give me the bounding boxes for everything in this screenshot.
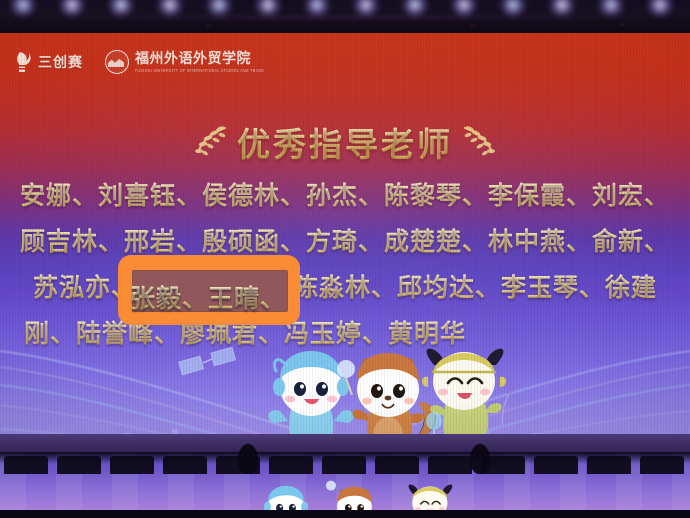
seat-silhouette — [57, 456, 101, 474]
seat-silhouette — [534, 456, 578, 474]
seat-silhouette — [269, 456, 313, 474]
torch-icon — [14, 50, 33, 75]
ceiling-light-rig — [0, 0, 690, 35]
sanchuangsai-logo: 三创赛 — [14, 50, 83, 75]
annotation-inner-box — [132, 270, 288, 312]
led-screen: 三创赛 福州外语外贸学院 FUZHOU UNIVERSITY OF INTERN… — [0, 33, 690, 440]
rig-fixture — [206, 24, 211, 27]
screen-artwork — [0, 333, 690, 440]
logo-row: 三创赛 福州外语外贸学院 FUZHOU UNIVERSITY OF INTERN… — [14, 45, 264, 79]
seat-silhouette — [110, 456, 154, 474]
wheat-left-icon — [189, 124, 229, 160]
stage-lamp — [547, 0, 577, 16]
name-row: 安娜、刘喜钰、侯德林、孙杰、陈黎琴、李保霞、刘宏、 — [0, 171, 690, 217]
university-logo-en: FUZHOU UNIVERSITY OF INTERNATIONAL STUDI… — [135, 68, 264, 73]
annotation-highlight-box — [118, 255, 300, 325]
green-horned-mascot — [408, 343, 524, 440]
name-row: 顾吉林、邢岩、殷硕函、方琦、成楚楚、林中燕、俞新、 — [0, 217, 690, 263]
teacher-name-list: 安娜、刘喜钰、侯德林、孙杰、陈黎琴、李保霞、刘宏、 顾吉林、邢岩、殷硕函、方琦、… — [0, 171, 690, 355]
seat-silhouette — [587, 456, 631, 474]
stage-photo: 三创赛 福州外语外贸学院 FUZHOU UNIVERSITY OF INTERN… — [0, 0, 690, 518]
stage-lamp — [155, 0, 185, 16]
rig-fixture — [620, 23, 625, 26]
stage-lamp — [106, 0, 136, 16]
university-emblem-icon — [105, 50, 129, 74]
rig-fixture — [470, 24, 475, 27]
stage-lamp — [400, 0, 430, 16]
screen-title-row: 优秀指导老师 — [0, 119, 690, 165]
stage-lamp — [8, 0, 38, 16]
stage-lamp — [253, 0, 283, 16]
wheat-right-icon — [461, 124, 501, 160]
stage-lamp — [645, 0, 675, 16]
seat-row — [0, 440, 690, 474]
stage-lamp — [302, 0, 332, 16]
stage-lamp — [57, 0, 87, 16]
bottom-rail — [0, 510, 690, 518]
person-head-silhouette — [470, 444, 490, 474]
seat-silhouette — [322, 456, 366, 474]
seat-silhouette — [375, 456, 419, 474]
seat-silhouette — [428, 456, 472, 474]
stage-lamp — [449, 0, 479, 16]
seat-silhouette — [4, 456, 48, 474]
fuzhou-university-logo: 福州外语外贸学院 FUZHOU UNIVERSITY OF INTERNATIO… — [105, 50, 264, 74]
stage-lamp — [498, 0, 528, 16]
stage-lamp — [596, 0, 626, 16]
satellite-icon — [178, 345, 240, 385]
page-title: 优秀指导老师 — [237, 118, 453, 166]
rig-glow — [0, 16, 690, 19]
seat-silhouette — [640, 456, 684, 474]
name-row: 苏泓亦、张毅、王晴、陈淼林、邱均达、李玉琴、徐建 — [0, 263, 690, 309]
stage-lamp — [204, 0, 234, 16]
sanchuangsai-logo-text: 三创赛 — [38, 52, 83, 72]
person-head-silhouette — [238, 444, 258, 474]
university-logo-cn: 福州外语外贸学院 — [135, 52, 264, 67]
stage-lamp — [351, 0, 381, 16]
seat-silhouette — [163, 456, 207, 474]
